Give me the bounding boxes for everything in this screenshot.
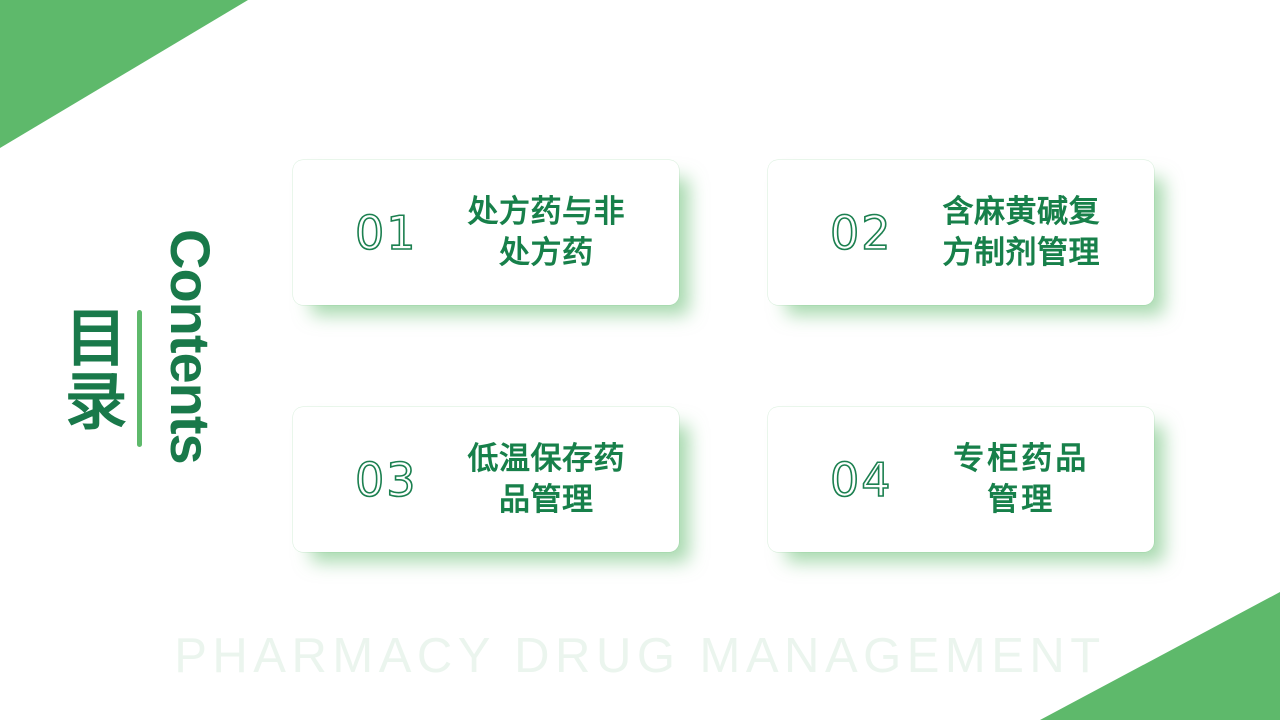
page-title-en: Contents [162,229,218,464]
agenda-card-title: 低温保存药 品管理 [440,439,653,521]
agenda-card-number: 04 [830,457,893,503]
agenda-card-title: 含麻黄碱复 方制剂管理 [915,192,1128,274]
agenda-card-number: 03 [355,457,418,503]
footer-watermark-text: PHARMACY DRUG MANAGEMENT [0,628,1280,684]
agenda-card-04[interactable]: 04 专柜药品 管理 [768,407,1154,552]
agenda-card-title: 处方药与非 处方药 [440,192,653,274]
agenda-card-number: 02 [830,210,893,256]
agenda-card-number: 01 [355,210,418,256]
green-triangle-top-left-icon [0,0,248,148]
heading-divider [137,310,142,447]
agenda-card-03[interactable]: 03 低温保存药 品管理 [293,407,679,552]
page-title-cn: 目 录 [60,307,132,433]
agenda-card-01[interactable]: 01 处方药与非 处方药 [293,160,679,305]
agenda-card-02[interactable]: 02 含麻黄碱复 方制剂管理 [768,160,1154,305]
contents-heading-block: 目 录 Contents [44,225,264,505]
slide-canvas: 目 录 Contents 01 处方药与非 处方药 02 含麻黄碱复 方制剂管理… [0,0,1280,720]
agenda-card-title: 专柜药品 管理 [915,439,1128,521]
